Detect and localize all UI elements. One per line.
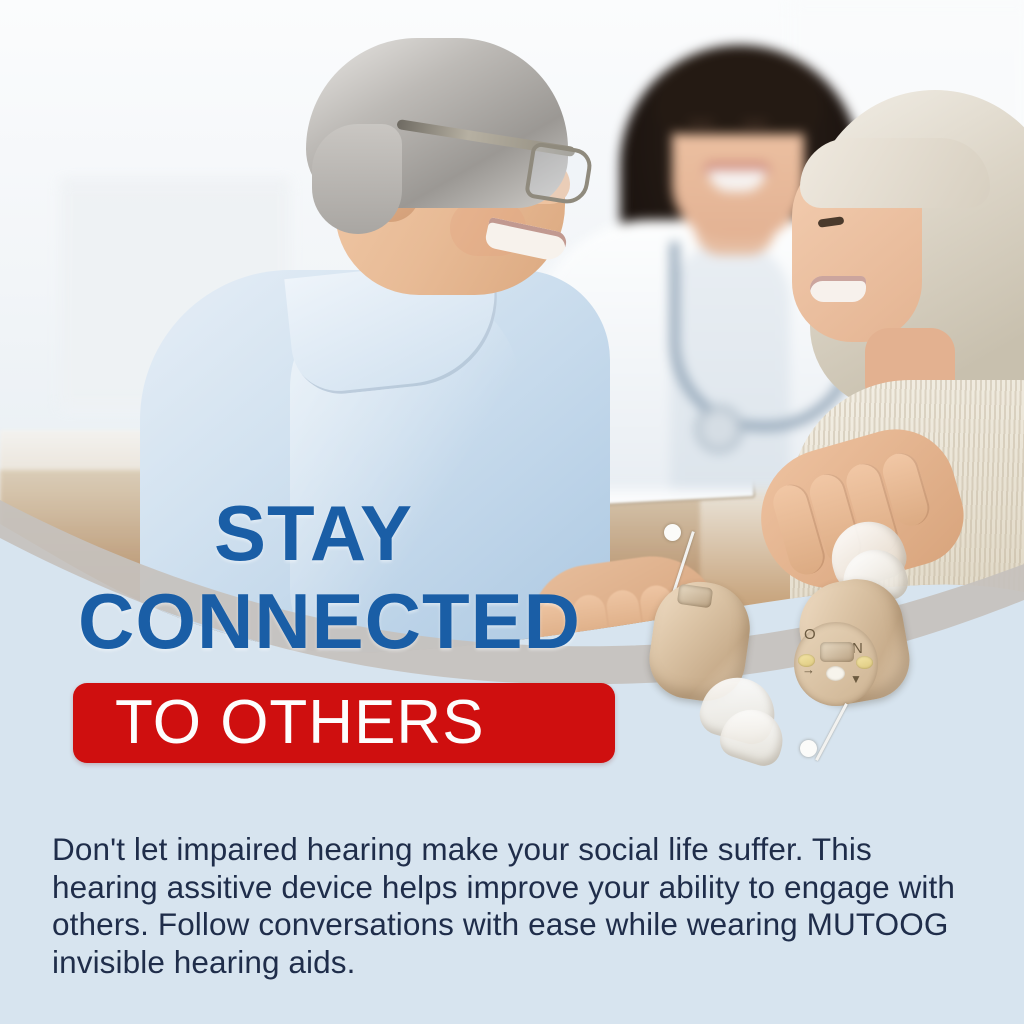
doctor-eye-right — [742, 120, 768, 127]
headline-badge: TO OTHERS — [73, 683, 615, 763]
body-copy-text: Don't let impaired hearing make your soc… — [52, 831, 982, 981]
aid-glyph-vent: ▼ — [850, 672, 862, 686]
aid-glyph-o: O — [804, 626, 816, 643]
removal-knob-right — [800, 740, 817, 757]
woman-fringe — [800, 138, 990, 208]
aid-faceplate-right: O N → ▼ — [794, 622, 878, 706]
removal-knob-left — [664, 524, 681, 541]
headline-line-2: CONNECTED — [78, 582, 581, 660]
body-copy: Don't let impaired hearing make your soc… — [52, 831, 982, 981]
aid-glyph-arrow: → — [802, 662, 815, 677]
removal-wire-right — [815, 703, 848, 761]
product-poster: O N → ▼ STAY CONNECTED TO OTHERS Don't l… — [0, 0, 1024, 1024]
eyeglasses-lens — [524, 141, 594, 206]
woman-smile — [810, 276, 866, 302]
headline-badge-label: TO OTHERS — [73, 692, 485, 754]
doctor-eye-left — [688, 120, 714, 127]
headline-line-1: STAY — [214, 494, 413, 572]
stethoscope-bell — [695, 405, 743, 453]
aid-contact-right — [856, 656, 873, 669]
aid-microphone-port — [826, 666, 845, 681]
hearing-aid-product-group: O N → ▼ — [630, 520, 950, 800]
aid-volume-switch-right — [820, 642, 854, 662]
